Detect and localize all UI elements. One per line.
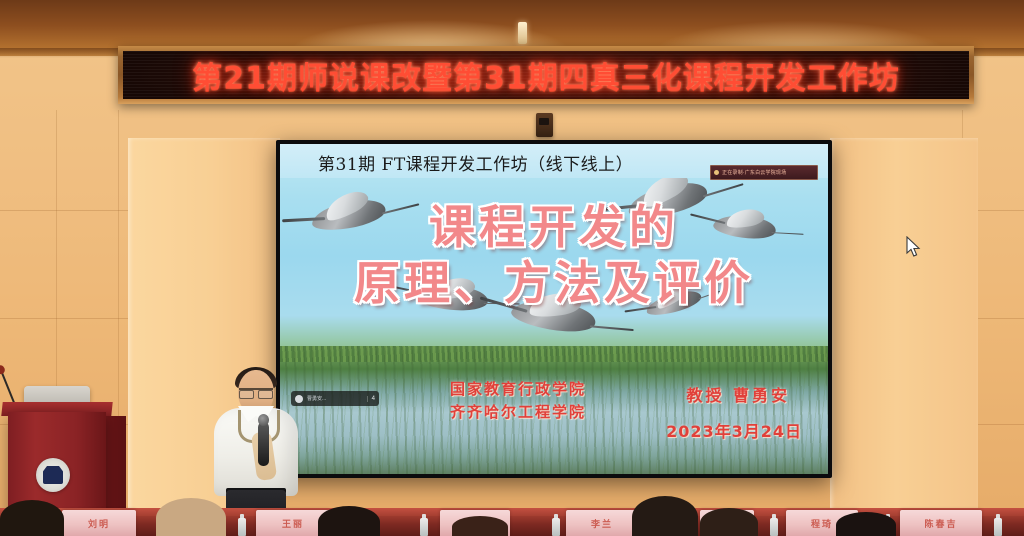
meeting-participant-widget[interactable]: 曹勇安... 4 — [291, 391, 379, 406]
handheld-microphone-icon — [258, 422, 269, 466]
audience-head — [156, 498, 226, 536]
crane-bird — [417, 282, 489, 313]
organization-line-2: 齐齐哈尔工程学院 — [450, 401, 586, 424]
nameplate: 刘明 — [62, 510, 136, 536]
crane-bird — [645, 287, 704, 318]
nameplate: 李兰 — [566, 510, 638, 536]
audience-head — [318, 506, 380, 536]
crane-bird — [310, 196, 387, 233]
water-bottle — [420, 518, 428, 536]
glasses-icon — [239, 388, 273, 397]
led-banner-screen: 第21期师说课改暨第31期四真三化课程开发工作坊 — [123, 51, 969, 99]
presentation-slide: 第31期 FT课程开发工作坊（线下线上） 正在录制·广东白云学院现场 课程开发的… — [280, 144, 828, 474]
audience-head — [632, 496, 698, 536]
led-banner: 第21期师说课改暨第31期四真三化课程开发工作坊 — [118, 46, 974, 104]
projector-device-icon — [536, 113, 553, 137]
water-bottle — [994, 518, 1002, 536]
nameplate-label: 程琦 — [811, 517, 833, 530]
crane-bird — [713, 212, 777, 242]
organization-line-1: 国家教育行政学院 — [450, 378, 586, 401]
water-bottle — [770, 518, 778, 536]
institution-emblem-icon — [36, 458, 70, 492]
nameplate-label: 陈春吉 — [924, 517, 957, 530]
audience-head — [700, 508, 758, 536]
nameplate-label: 李兰 — [591, 517, 613, 530]
nameplate-label: 刘明 — [88, 517, 110, 530]
slide-organizations: 国家教育行政学院 齐齐哈尔工程学院 — [450, 378, 586, 424]
wall-column-right — [830, 138, 978, 536]
slide-date: 2023年3月24日 — [666, 418, 802, 442]
nameplate-label: 王丽 — [282, 517, 304, 530]
slide-header-title: 第31期 FT课程开发工作坊（线下线上） — [318, 150, 633, 175]
ceiling-light-icon — [518, 22, 527, 44]
nameplate: 陈春吉 — [900, 510, 982, 536]
recording-badge: 正在录制·广东白云学院现场 — [710, 165, 818, 180]
water-bottle — [552, 518, 560, 536]
participant-count: 4 — [367, 396, 375, 402]
crane-bird — [510, 295, 598, 337]
audience-head — [0, 500, 64, 536]
mouse-cursor-icon — [906, 236, 922, 258]
recording-badge-label: 正在录制·广东白云学院现场 — [722, 169, 786, 176]
recording-dot-icon — [714, 170, 719, 175]
screenshot-canvas: 第21期师说课改暨第31期四真三化课程开发工作坊 — [0, 0, 1024, 536]
water-bottle — [238, 518, 246, 536]
projection-screen: 第31期 FT课程开发工作坊（线下线上） 正在录制·广东白云学院现场 课程开发的… — [276, 140, 832, 478]
audience-head — [452, 516, 508, 536]
banner-title: 第21期师说课改暨第31期四真三化课程开发工作坊 — [192, 53, 900, 97]
slide-presenter: 教授 曹勇安 — [686, 382, 790, 406]
audience-head — [836, 512, 896, 536]
participant-name: 曹勇安... — [307, 395, 363, 402]
